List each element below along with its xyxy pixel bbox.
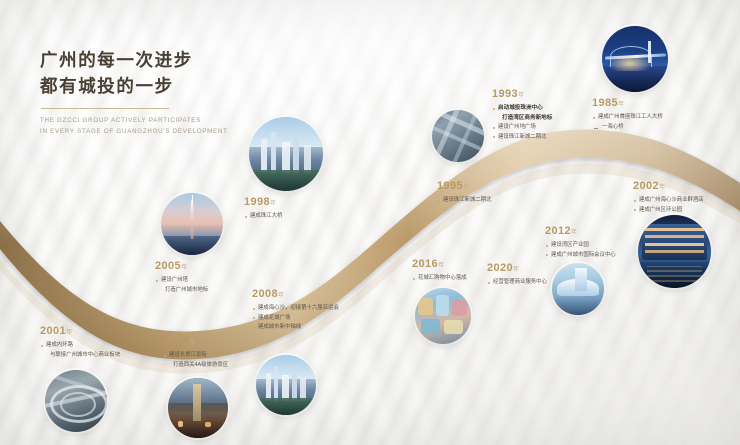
milestone-year: 2005年 bbox=[155, 260, 223, 274]
milestone-bullet: 建成广州海心沙商业群酒店 bbox=[633, 196, 704, 206]
milestone-year: 2012年 bbox=[545, 225, 616, 239]
milestone-bullets: 建成珠江大桥 bbox=[244, 212, 323, 222]
milestone-zhujiang-new-town-text: 1993年 启动城投珠洲中心 打造湾区商务新地标 建设广州地广场 建设珠江新城二… bbox=[492, 88, 552, 142]
milestone-year: 2001年 bbox=[40, 325, 120, 339]
milestone-bullets: 建设长堤江景街 打造西关4A级旅游景区 bbox=[163, 351, 228, 370]
milestone-year: 2016年 bbox=[412, 258, 467, 272]
milestone-asian-games-photo-wrap[interactable] bbox=[256, 355, 316, 415]
milestone-interchange-photo-wrap[interactable] bbox=[45, 370, 107, 432]
milestone-bullet: 一海心桥 bbox=[592, 123, 668, 133]
interchange-photo[interactable] bbox=[45, 370, 107, 432]
mall-interior-photo[interactable] bbox=[415, 288, 471, 344]
milestone-bullets: 建设湾区产业园 建成广州城市国际会议中心 bbox=[545, 241, 616, 260]
milestone-changdi-street[interactable]: 2004年 建设长堤江景街 打造西关4A级旅游景区 bbox=[163, 335, 228, 370]
milestone-mall-photo-wrap[interactable] bbox=[415, 288, 471, 344]
milestone-canton-tower[interactable]: 2005年 建设广州塔 打造广州城市地标 bbox=[155, 193, 223, 295]
milestone-bullet: 建设珠江新城二期北 bbox=[492, 133, 552, 143]
milestone-bullet: 建成城市新中轴线 bbox=[252, 323, 339, 333]
milestone-zhujiang-new-town[interactable] bbox=[432, 110, 484, 162]
milestone-year: 1993年 bbox=[492, 88, 552, 102]
milestone-bullet: 建成花城广场 bbox=[252, 314, 339, 324]
milestone-bullet: 建设湾区产业园 bbox=[545, 241, 616, 251]
milestone-hotel-photo-wrap[interactable] bbox=[638, 215, 711, 288]
milestone-bullet: 建成海心沙，迎接第十六届亚运会 bbox=[252, 304, 339, 314]
milestone-year: 1995年 bbox=[437, 180, 492, 194]
milestone-year: 2002年 bbox=[633, 180, 704, 194]
milestone-bullets: 建成广州海心沙商业群酒店 建成广州区环公园 bbox=[633, 196, 704, 215]
milestone-bullet: 经营管理商业服务中心 bbox=[487, 278, 547, 288]
aerial-district-photo[interactable] bbox=[432, 110, 484, 162]
milestone-changdi-photo-wrap[interactable] bbox=[168, 378, 228, 438]
convention-center-photo[interactable] bbox=[552, 263, 604, 315]
milestone-year: 2008年 bbox=[252, 288, 339, 302]
headline-divider bbox=[41, 108, 169, 109]
milestone-guangzhou-hotel-ring[interactable]: 2002年 建成广州海心沙商业群酒店 建成广州区环公园 bbox=[633, 180, 704, 215]
milestone-bullet: 建设广州地广场 bbox=[492, 123, 552, 133]
milestone-year: 1985年 bbox=[592, 97, 668, 111]
milestone-zhujiang-ring[interactable]: 1995年 建设珠江新城二期北 bbox=[437, 180, 492, 206]
milestone-operations-center[interactable]: 2020年 经营管理商业服务中心 bbox=[487, 262, 547, 288]
headline-line-2: 都有城投的一步 bbox=[40, 73, 370, 99]
milestone-bullet: 建成珠江大桥 bbox=[244, 212, 323, 222]
milestone-convention-center[interactable]: 2012年 建设湾区产业园 建成广州城市国际会议中心 bbox=[545, 225, 616, 260]
milestone-year: 2004年 bbox=[163, 335, 228, 349]
milestone-bullet: 与联接广州城市中心商业板块 bbox=[40, 351, 120, 361]
milestone-convention-photo-wrap[interactable] bbox=[552, 263, 604, 315]
heritage-street-photo[interactable] bbox=[256, 355, 316, 415]
milestone-year: 2020年 bbox=[487, 262, 547, 276]
milestone-bullets: 建设广州塔 打造广州城市地标 bbox=[155, 276, 223, 295]
milestone-guangzhou-north[interactable]: 2001年 建成内环路 与联接广州城市中心商业板块 bbox=[40, 325, 120, 360]
milestone-bullet: 建成广州区环公园 bbox=[633, 206, 704, 216]
milestone-year: 1998年 bbox=[244, 196, 323, 210]
milestone-bullets: 花城汇购物中心落成 bbox=[412, 274, 467, 284]
milestone-bullet: 建成广州首座珠江工人大桥 bbox=[592, 113, 668, 123]
milestone-bullets: 建设珠江新城二期北 bbox=[437, 196, 492, 206]
milestone-guangzhou-bridge[interactable]: 1985年 建成广州首座珠江工人大桥 一海心桥 bbox=[592, 26, 668, 132]
milestone-bullets: 建成内环路 与联接广州城市中心商业板块 bbox=[40, 341, 120, 360]
milestone-bullets: 经营管理商业服务中心 bbox=[487, 278, 547, 288]
canton-tower-photo[interactable] bbox=[161, 193, 223, 255]
milestone-bullet: 启动城投珠洲中心 bbox=[492, 104, 552, 114]
milestone-grand-theatre[interactable]: 1998年 建成珠江大桥 bbox=[244, 117, 323, 222]
milestone-bullet: 建设广州塔 bbox=[155, 276, 223, 286]
milestone-bullet: 打造湾区商务新地标 bbox=[492, 114, 552, 124]
milestone-bullet: 建成内环路 bbox=[40, 341, 120, 351]
milestone-bullet: 花城汇购物中心落成 bbox=[412, 274, 467, 284]
night-bridge-photo[interactable] bbox=[602, 26, 668, 92]
milestone-flower-city-mall[interactable]: 2016年 花城汇购物中心落成 bbox=[412, 258, 467, 284]
milestone-asian-games[interactable]: 2008年 建成海心沙，迎接第十六届亚运会 建成花城广场 建成城市新中轴线 bbox=[252, 288, 339, 333]
milestone-bullets: 启动城投珠洲中心 打造湾区商务新地标 建设广州地广场 建设珠江新城二期北 bbox=[492, 104, 552, 142]
city-skyline-photo[interactable] bbox=[249, 117, 323, 191]
milestone-bullet: 建成广州城市国际会议中心 bbox=[545, 251, 616, 261]
milestone-bullets: 建成海心沙，迎接第十六届亚运会 建成花城广场 建成城市新中轴线 bbox=[252, 304, 339, 333]
infographic-canvas: 广州的每一次进步 都有城投的一步 THE GZCCI GROUP ACTIVEL… bbox=[0, 0, 740, 445]
milestone-bullet: 建设长堤江景街 bbox=[163, 351, 228, 361]
milestone-bullet: 打造广州城市地标 bbox=[155, 286, 223, 296]
heritage-tower-photo[interactable] bbox=[168, 378, 228, 438]
headline-line-1: 广州的每一次进步 bbox=[40, 47, 370, 73]
milestone-bullet: 打造西关4A级旅游景区 bbox=[163, 361, 228, 371]
hotel-night-photo[interactable] bbox=[638, 215, 711, 288]
milestone-bullets: 建成广州首座珠江工人大桥 一海心桥 bbox=[592, 113, 668, 132]
milestone-bullet: 建设珠江新城二期北 bbox=[437, 196, 492, 206]
